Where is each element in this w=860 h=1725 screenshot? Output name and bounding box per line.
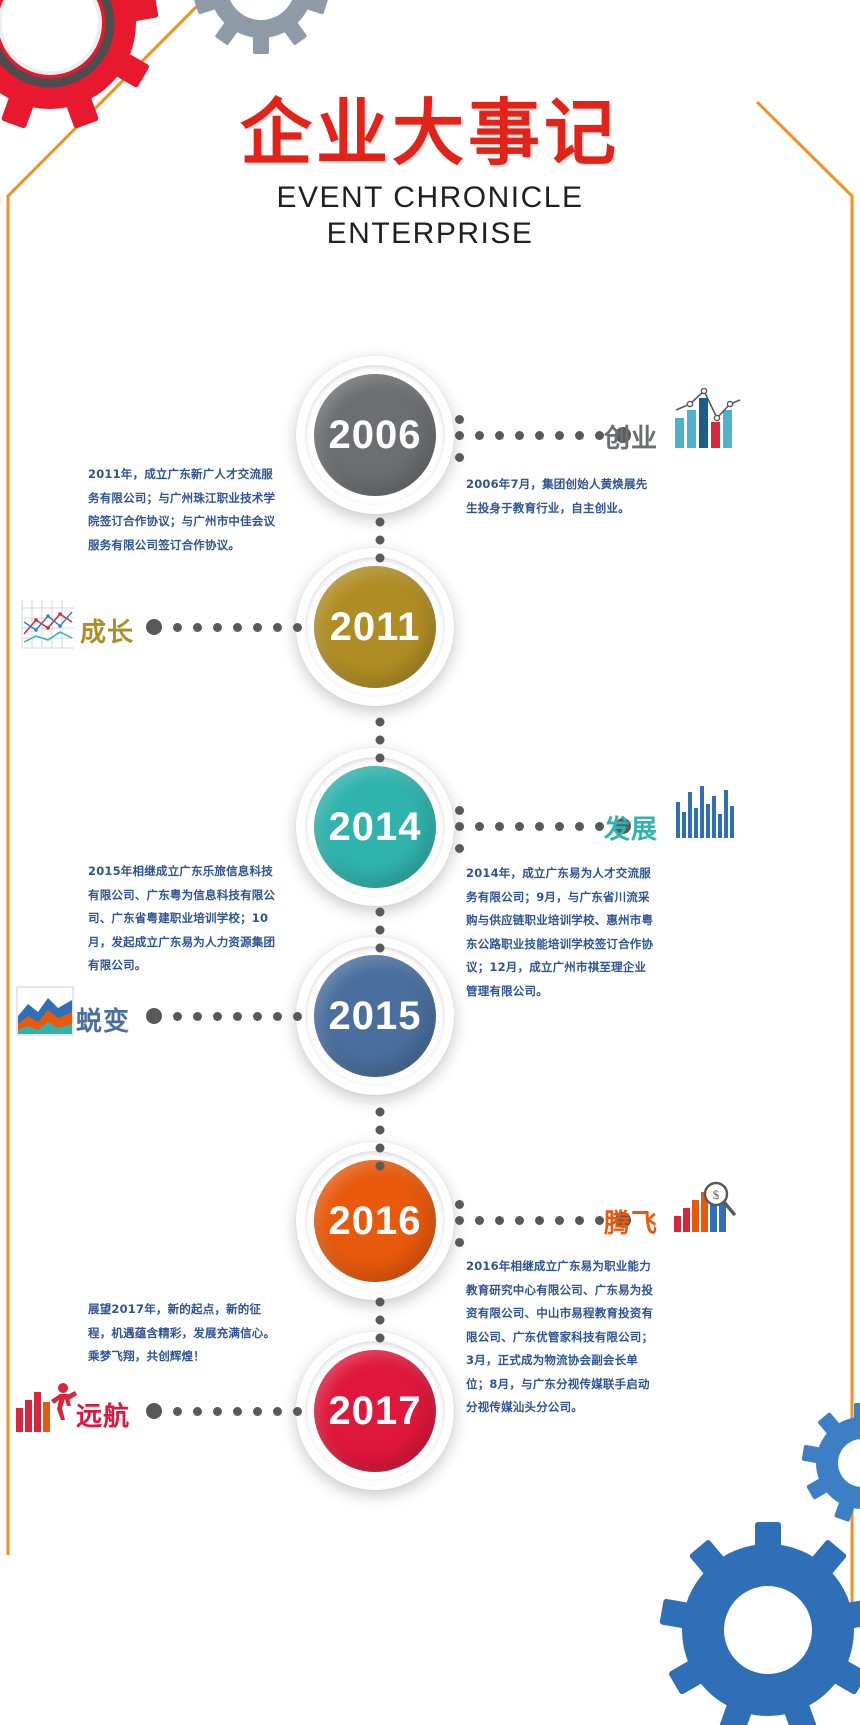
timeline-spine <box>368 350 392 1420</box>
dot <box>213 1407 222 1416</box>
dot <box>273 1012 282 1021</box>
dot <box>495 822 504 831</box>
dot <box>495 1216 504 1225</box>
dot <box>253 1407 262 1416</box>
dot <box>233 1012 242 1021</box>
connector-dots-2011 <box>146 619 302 635</box>
dot <box>535 1216 544 1225</box>
svg-text:$: $ <box>713 1187 720 1202</box>
multi-line-chart-icon <box>16 594 78 656</box>
dot <box>575 1216 584 1225</box>
keyword-2006: 创业 <box>604 418 658 455</box>
keyword-2011: 成长 <box>80 612 134 649</box>
dot <box>293 1012 302 1021</box>
dot <box>575 822 584 831</box>
connector-stub-bottom <box>455 1238 464 1247</box>
dot <box>455 431 464 440</box>
dot <box>555 431 564 440</box>
dot <box>595 822 604 831</box>
column-chart-icon <box>674 782 740 840</box>
dot <box>555 822 564 831</box>
bar-line-chart-icon <box>673 388 743 450</box>
poster-canvas: 企业大事记 EVENT CHRONICLE ENTERPRISE 2006 <box>0 0 860 1719</box>
keyword-2015: 蜕变 <box>76 1001 130 1038</box>
dot <box>173 623 182 632</box>
dot <box>193 1012 202 1021</box>
description-2017: 展望2017年，新的起点，新的征程，机遇蕴含精彩，发展充满信心。乘梦飞翔，共创辉… <box>88 1298 278 1369</box>
dot <box>233 1407 242 1416</box>
dot <box>213 623 222 632</box>
dot-terminal <box>146 1403 162 1419</box>
description-2015: 2015年相继成立广东乐旅信息科技有限公司、广东粤为信息科技有限公司、广东省粤建… <box>88 860 278 978</box>
dot <box>293 623 302 632</box>
connector-stub-top <box>455 415 464 424</box>
dot-terminal <box>146 1008 162 1024</box>
dot <box>253 1012 262 1021</box>
connector-stub-bottom <box>455 844 464 853</box>
dot <box>535 431 544 440</box>
dot <box>455 822 464 831</box>
keyword-2016: 腾飞 <box>604 1203 658 1240</box>
dot <box>253 623 262 632</box>
dot <box>495 431 504 440</box>
description-2016: 2016年相继成立广东易为职业能力教育研究中心有限公司、广东易为投资有限公司、中… <box>466 1255 654 1420</box>
dot <box>595 1216 604 1225</box>
dot <box>475 1216 484 1225</box>
dot <box>173 1012 182 1021</box>
dot <box>273 623 282 632</box>
dot <box>595 431 604 440</box>
bar-chart-runner-icon <box>14 1378 78 1434</box>
dot <box>193 1407 202 1416</box>
dot <box>193 623 202 632</box>
connector-stub-bottom <box>455 453 464 462</box>
dot <box>293 1407 302 1416</box>
dot <box>515 822 524 831</box>
dot <box>515 1216 524 1225</box>
dot <box>213 1012 222 1021</box>
dot <box>555 1216 564 1225</box>
timeline: 2006 创业 <box>0 0 860 1719</box>
connector-dots-2015 <box>146 1008 302 1024</box>
dot <box>515 431 524 440</box>
dot <box>455 1216 464 1225</box>
connector-dots-2017 <box>146 1403 302 1419</box>
dot-terminal <box>146 619 162 635</box>
connector-stub-top <box>455 1200 464 1209</box>
dot <box>475 822 484 831</box>
connector-stub-top <box>455 806 464 815</box>
keyword-2014: 发展 <box>604 809 658 846</box>
keyword-2017: 远航 <box>76 1396 130 1433</box>
description-2011: 2011年，成立广东新广人才交流服务有限公司；与广州珠江职业技术学院签订合作协议… <box>88 463 278 557</box>
dot <box>233 623 242 632</box>
dot <box>475 431 484 440</box>
dot <box>575 431 584 440</box>
dot <box>173 1407 182 1416</box>
bar-chart-magnifier-icon: $ <box>672 1176 740 1234</box>
dot <box>273 1407 282 1416</box>
description-2006: 2006年7月，集团创始人黄焕展先生投身于教育行业，自主创业。 <box>466 473 654 520</box>
description-2014: 2014年，成立广东易为人才交流服务有限公司；9月，与广东省川流采购与供应链职业… <box>466 862 654 1003</box>
dot <box>535 822 544 831</box>
area-chart-icon <box>16 986 74 1036</box>
